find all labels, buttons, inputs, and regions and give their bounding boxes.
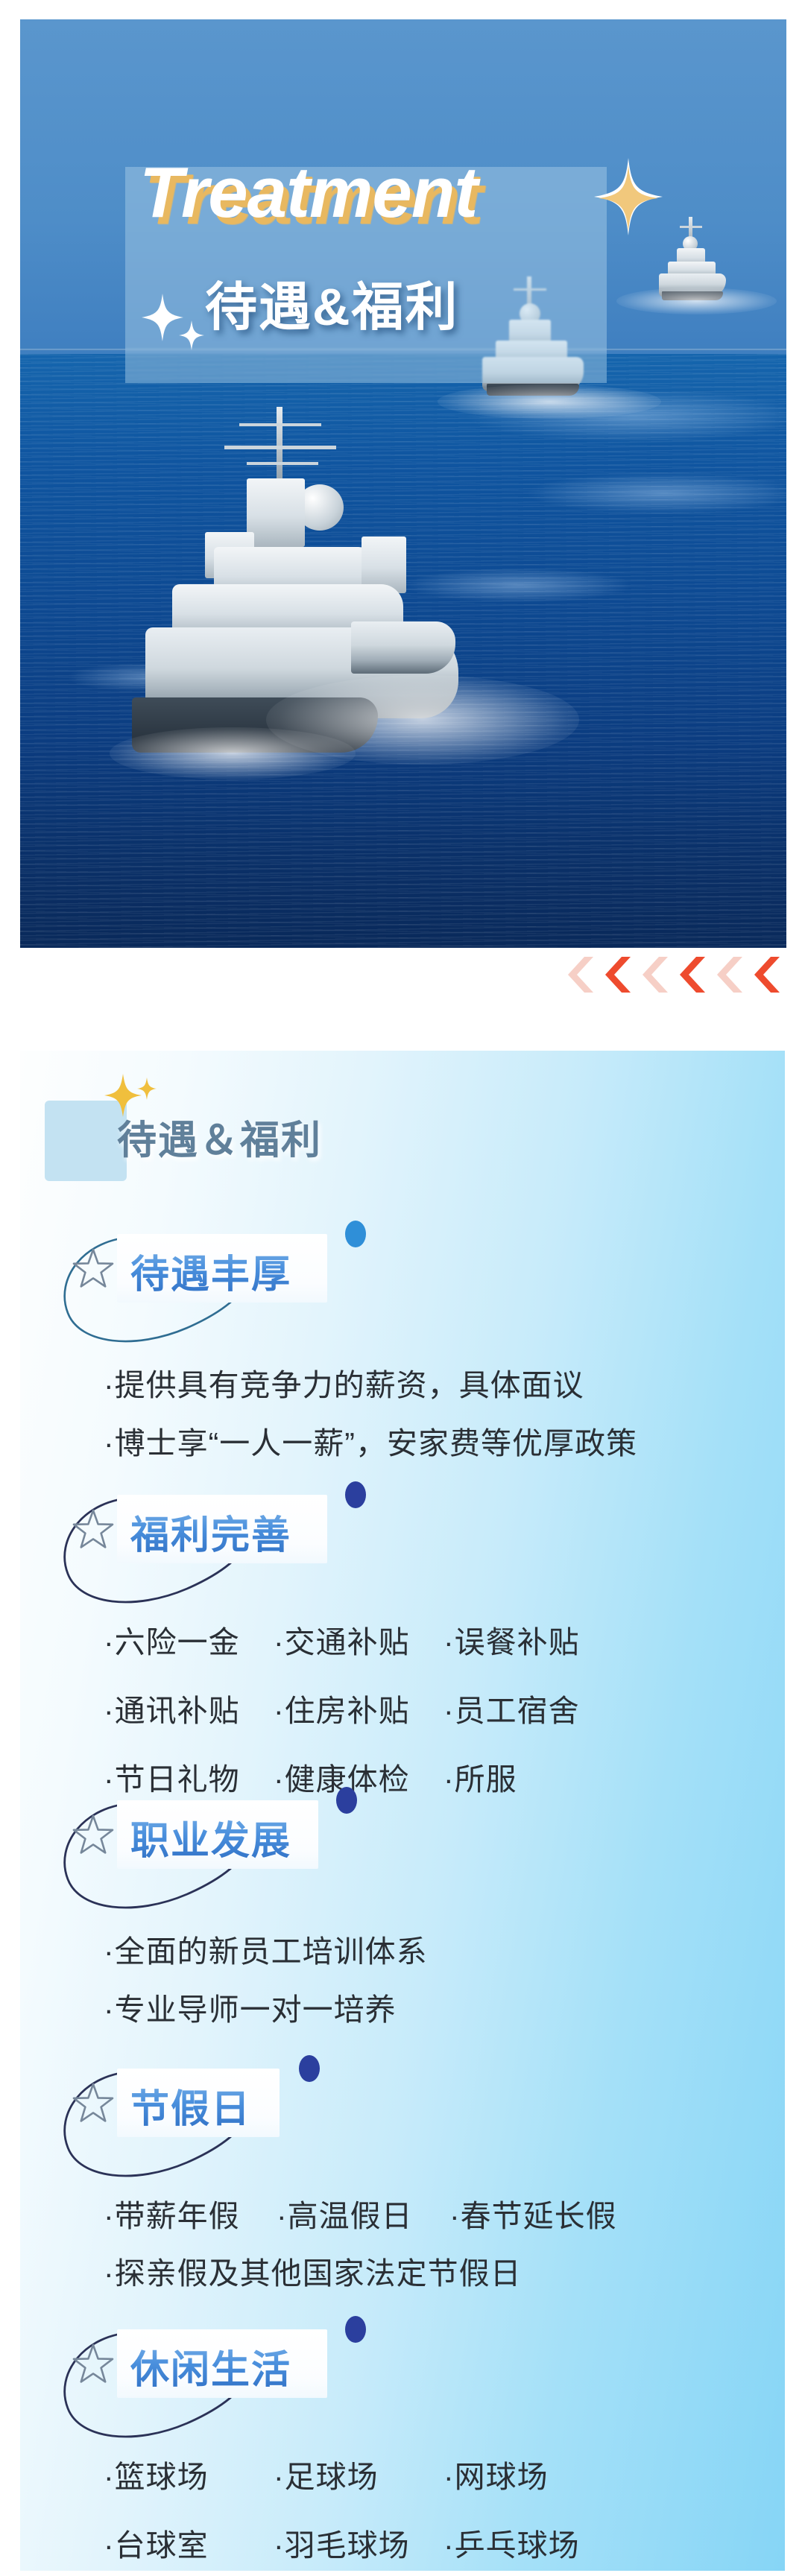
benefit-item: ·台球室 [104, 2520, 274, 2565]
block-heading: 福利完善 [130, 1504, 291, 1560]
benefit-lines: ·全面的新员工培训体系 ·专业导师一对一培养 [104, 1922, 428, 2039]
chevron-left-icon [708, 957, 742, 993]
benefit-line: ·博士享“一人一薪”，安家费等优厚政策 [104, 1414, 637, 1472]
chevron-left-icon [559, 957, 593, 993]
benefit-item: ·足球场 [274, 2452, 443, 2496]
accent-dot [299, 2055, 320, 2082]
section-title: 待遇＆福利 [117, 1109, 322, 1165]
star-outline-icon [72, 1508, 114, 1550]
benefit-item: ·网球场 [443, 2452, 622, 2496]
accent-dot [345, 1481, 366, 1508]
benefit-lines: ·提供具有竞争力的薪资，具体面议 ·博士享“一人一薪”，安家费等优厚政策 [104, 1356, 637, 1472]
accent-dot [345, 1221, 366, 1247]
block-heading: 休闲生活 [130, 2338, 291, 2394]
benefit-item: ·六险一金 [104, 1617, 274, 1662]
accent-dot [345, 2316, 366, 2343]
benefits-panel: 待遇＆福利 待遇丰厚 ·提供具有竞争力的薪资，具体面议 ·博士享“一人一薪”，安… [20, 1051, 785, 2571]
benefit-item: ·所服 [443, 1754, 622, 1799]
benefit-grid: ·带薪年假 ·高温假日 ·春节延长假 [104, 2191, 628, 2235]
benefit-item: ·交通补贴 [274, 1617, 443, 1662]
benefit-line: ·全面的新员工培训体系 [104, 1922, 428, 1981]
hero-banner: Treatment 待遇&福利 [20, 19, 786, 948]
benefit-item: ·通讯补贴 [104, 1686, 274, 1730]
benefit-item: ·误餐补贴 [443, 1617, 622, 1662]
benefit-item: ·员工宿舍 [443, 1686, 622, 1730]
benefit-line: ·专业导师一对一培养 [104, 1981, 428, 2039]
benefit-grid: ·篮球场 ·足球场 ·网球场 ·台球室 ·羽毛球场 ·乒乓球场 [104, 2452, 622, 2565]
benefit-line: ·探亲假及其他国家法定节假日 [104, 2244, 522, 2303]
chevron-left-icon [671, 957, 705, 993]
block-heading: 待遇丰厚 [130, 1243, 291, 1299]
accent-dot [336, 1787, 357, 1814]
ship-far [650, 217, 738, 305]
block-heading: 职业发展 [130, 1809, 291, 1865]
benefit-lines: ·探亲假及其他国家法定节假日 [104, 2244, 522, 2303]
block-heading: 节假日 [130, 2077, 251, 2133]
chevron-divider [559, 955, 786, 994]
benefit-item: ·春节延长假 [449, 2191, 628, 2235]
star-outline-icon [72, 1814, 114, 1855]
chevron-left-icon [634, 957, 668, 993]
sparkle-icon [137, 1077, 157, 1104]
benefit-item: ·健康体检 [274, 1754, 443, 1799]
benefit-grid: ·六险一金 ·交通补贴 ·误餐补贴 ·通讯补贴 ·住房补贴 ·员工宿舍 ·节日礼… [104, 1617, 622, 1799]
benefit-item: ·羽毛球场 [274, 2520, 443, 2565]
hero-title-en: Treatment [139, 152, 477, 234]
benefit-item: ·带薪年假 [104, 2191, 277, 2235]
star-outline-icon [72, 2082, 114, 2124]
benefit-line: ·提供具有竞争力的薪资，具体面议 [104, 1356, 637, 1414]
benefit-item: ·高温假日 [277, 2191, 449, 2235]
benefit-item: ·节日礼物 [104, 1754, 274, 1799]
hero-title-cn: 待遇&福利 [205, 265, 459, 341]
chevron-left-icon [745, 957, 780, 993]
star-outline-icon [72, 1247, 114, 1289]
chevron-left-icon [596, 957, 631, 993]
benefit-item: ·篮球场 [104, 2452, 274, 2496]
ship-foreground [101, 407, 488, 757]
benefit-item: ·乒乓球场 [443, 2520, 622, 2565]
benefit-item: ·住房补贴 [274, 1686, 443, 1730]
star-outline-icon [72, 2343, 114, 2384]
